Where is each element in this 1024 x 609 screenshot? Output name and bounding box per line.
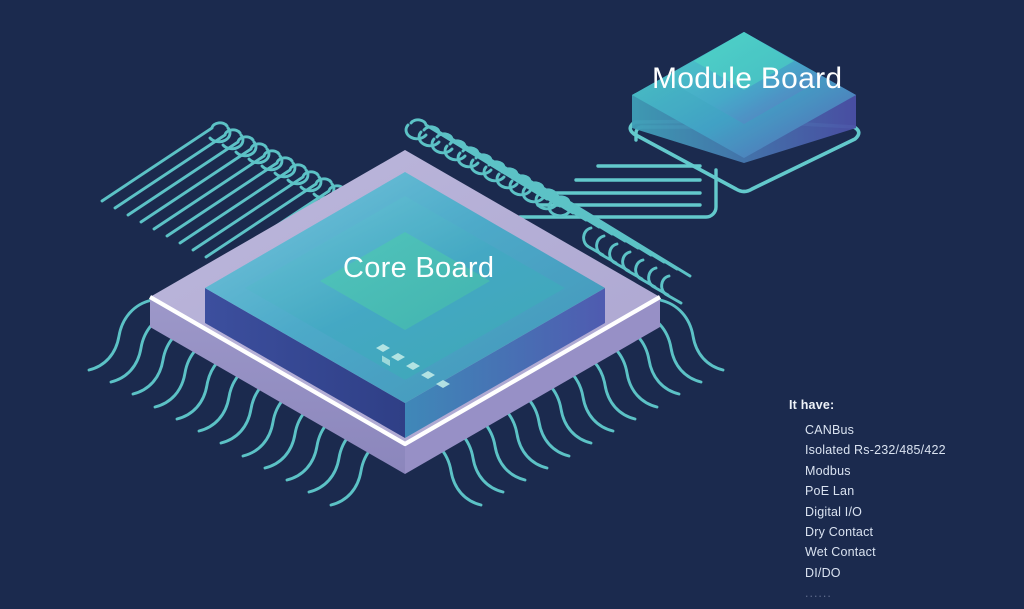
list-item-ellipsis: ...... xyxy=(805,583,1019,603)
core-board-label: Core Board xyxy=(343,252,494,285)
list-item: DI/DO xyxy=(805,563,1019,583)
list-item: Dry Contact xyxy=(805,522,1019,542)
diagram-canvas: Core Board Module Board It have: CANBus … xyxy=(0,0,1024,609)
feature-list-panel: It have: CANBus Isolated Rs-232/485/422 … xyxy=(789,398,1019,604)
list-item: CANBus xyxy=(805,420,1019,440)
module-board-label: Module Board xyxy=(652,62,842,96)
list-item: Isolated Rs-232/485/422 xyxy=(805,440,1019,460)
list-item: Wet Contact xyxy=(805,542,1019,562)
list-item: Modbus xyxy=(805,461,1019,481)
feature-list: CANBus Isolated Rs-232/485/422 Modbus Po… xyxy=(789,420,1019,604)
feature-list-title: It have: xyxy=(789,398,1019,412)
list-item: PoE Lan xyxy=(805,481,1019,501)
list-item: Digital I/O xyxy=(805,502,1019,522)
